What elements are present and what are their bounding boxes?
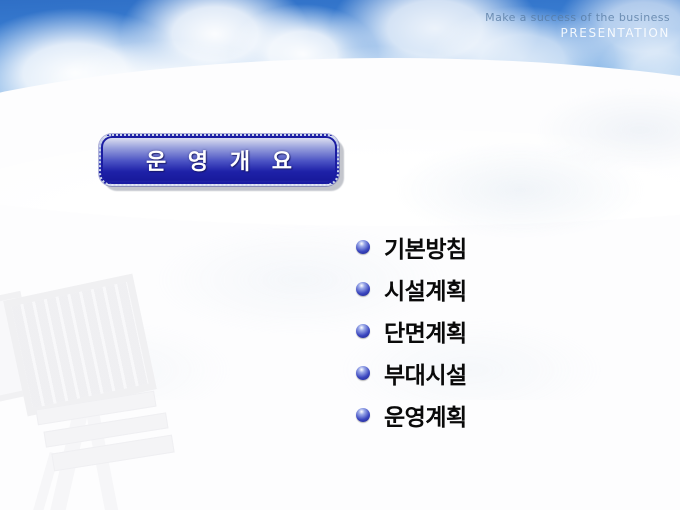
list-item-label: 부대시설 — [384, 356, 467, 390]
list-item[interactable]: 시설계획 — [356, 272, 467, 306]
list-item[interactable]: 기본방침 — [356, 230, 467, 264]
list-item[interactable]: 운영계획 — [356, 398, 467, 432]
list-item[interactable]: 부대시설 — [356, 356, 467, 390]
title-button-label: 운 영 개 요 — [139, 144, 299, 176]
bullet-sphere-icon — [356, 282, 370, 296]
white-curve-feather — [0, 46, 680, 226]
bullet-sphere-icon — [356, 324, 370, 338]
list-item-label: 운영계획 — [384, 398, 467, 432]
bullet-sphere-icon — [356, 366, 370, 380]
bullet-sphere-icon — [356, 240, 370, 254]
presentation-slide: Make a success of the business PRESENTAT… — [0, 0, 680, 510]
agenda-list: 기본방침 시설계획 단면계획 부대시설 운영계획 — [356, 230, 467, 440]
bullet-sphere-icon — [356, 408, 370, 422]
list-item-label: 시설계획 — [384, 272, 467, 306]
list-item-label: 기본방침 — [384, 230, 467, 264]
list-item[interactable]: 단면계획 — [356, 314, 467, 348]
title-button[interactable]: 운 영 개 요 — [99, 134, 339, 186]
list-item-label: 단면계획 — [384, 314, 467, 348]
